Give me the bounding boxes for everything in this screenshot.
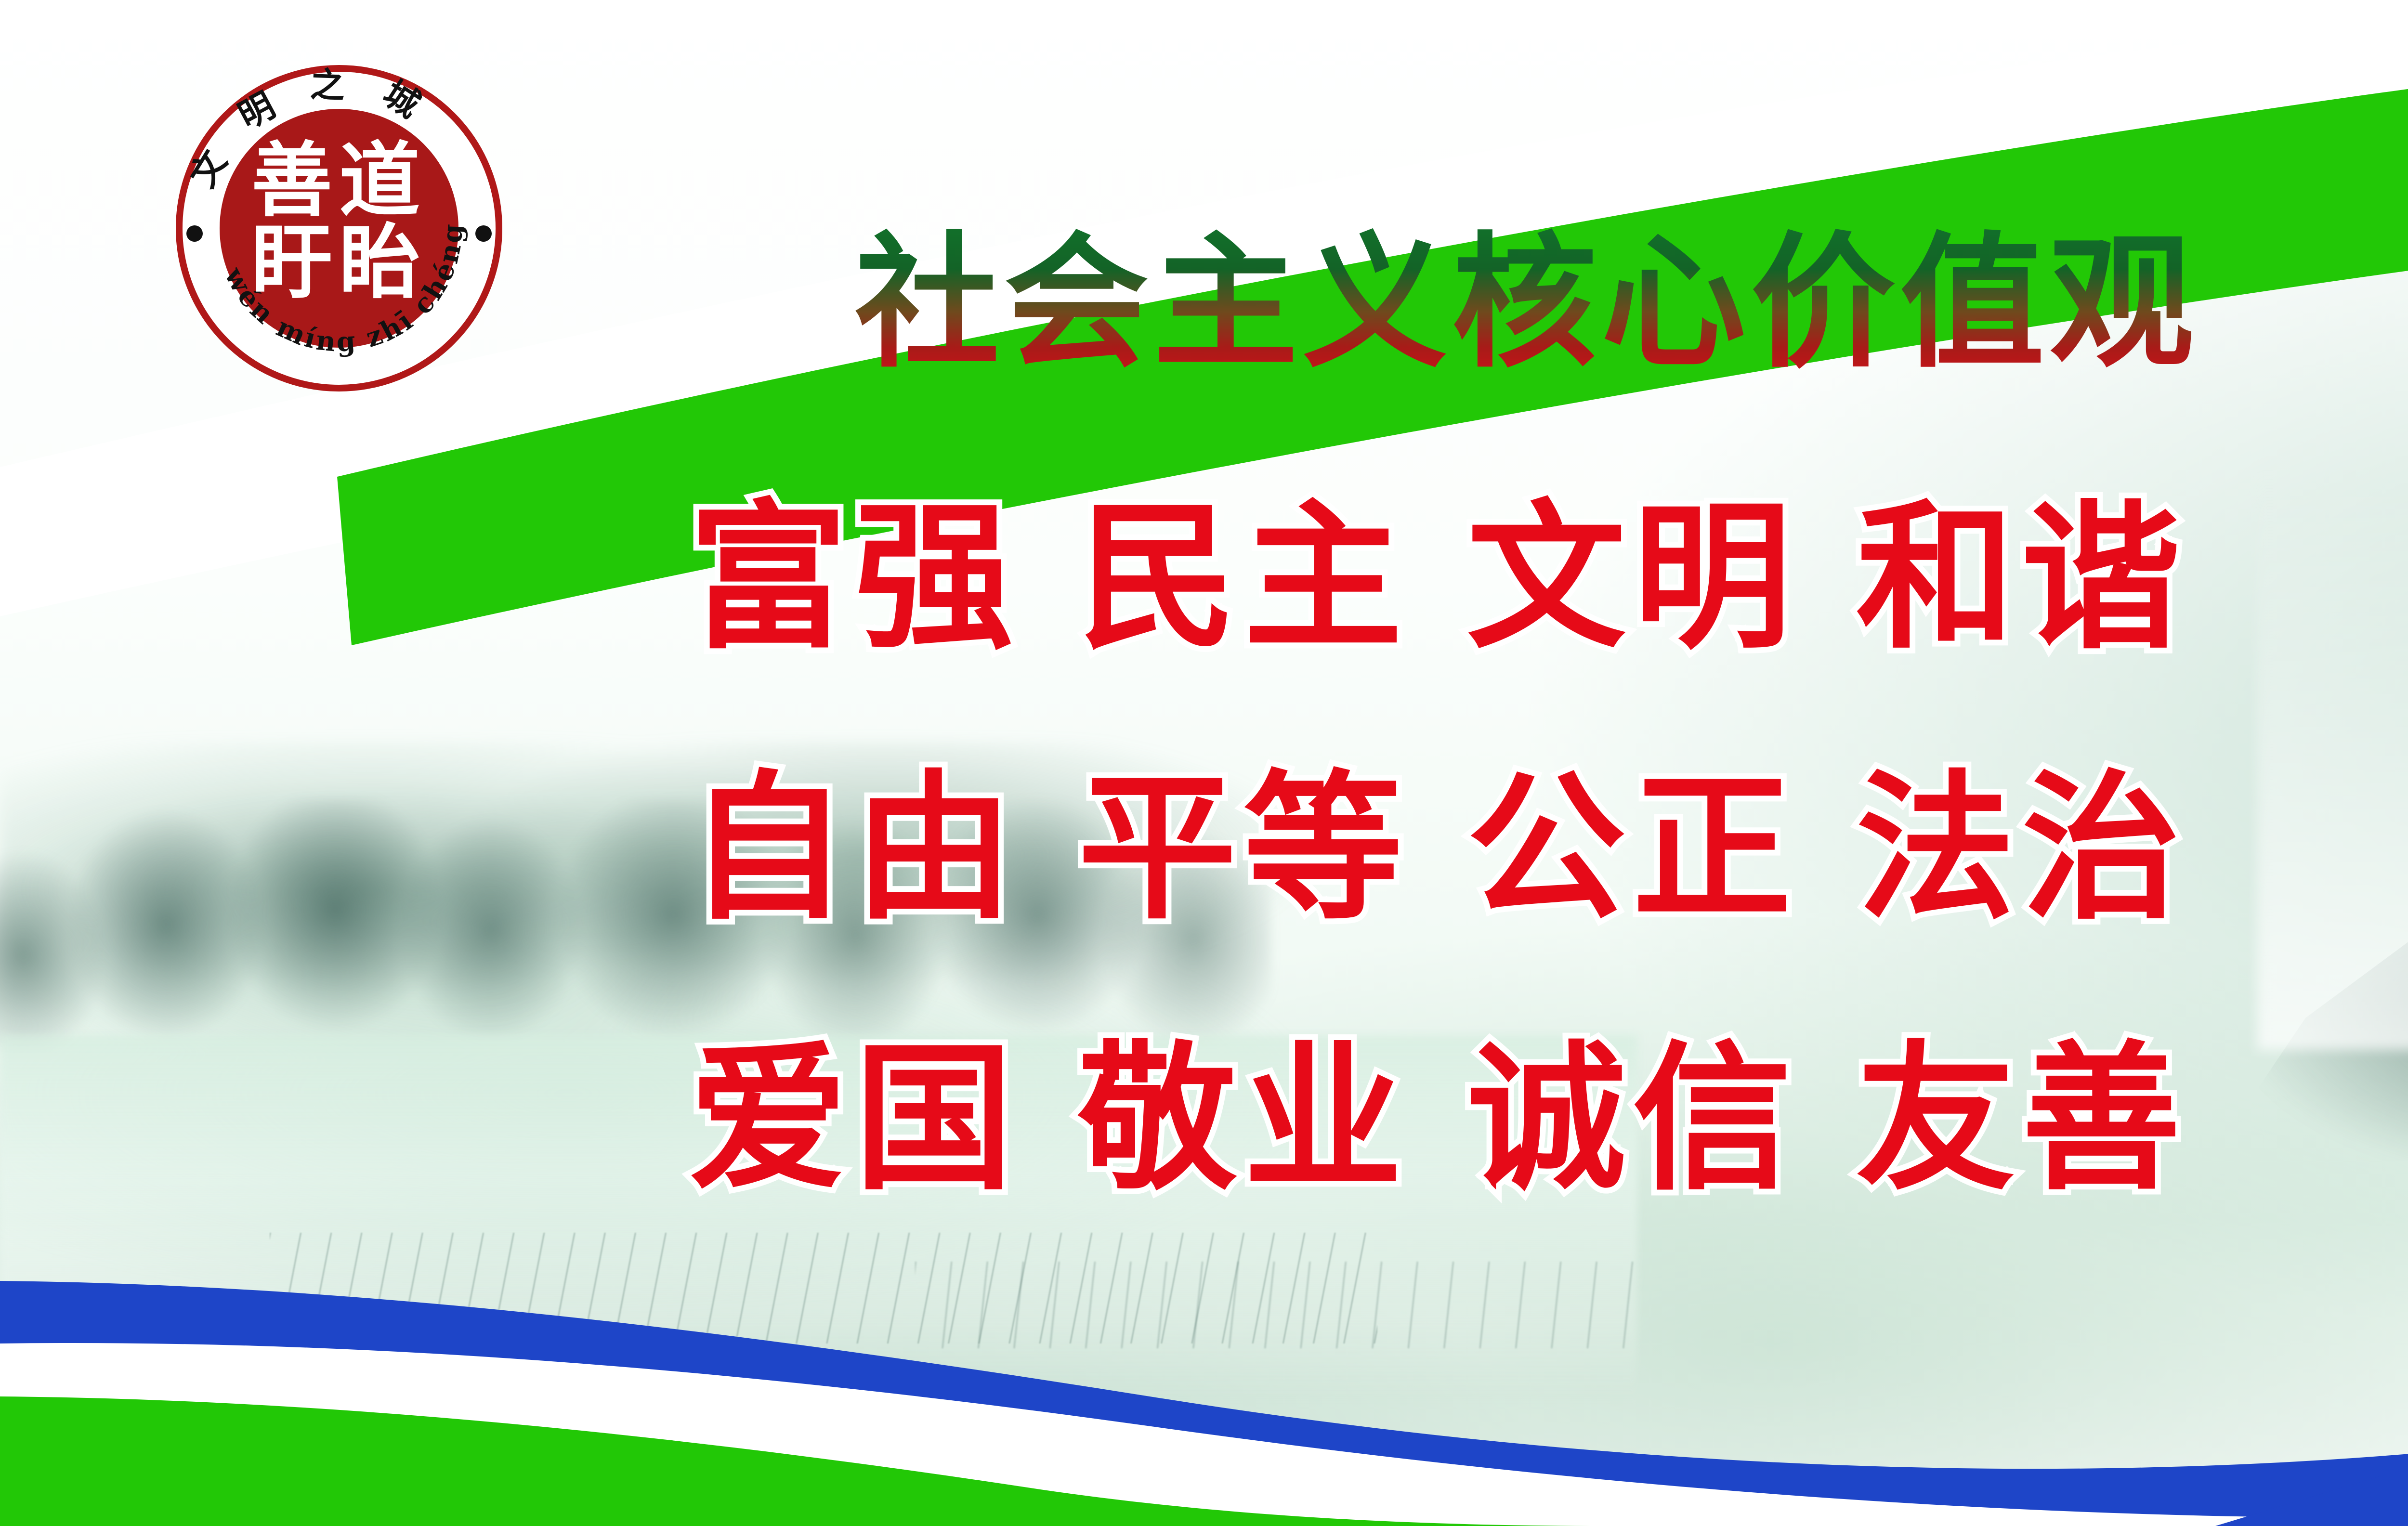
value-word: 公正 (1467, 756, 1798, 941)
value-word: 民主 (1078, 485, 1409, 670)
value-word: 敬业 (1078, 1027, 1409, 1212)
value-row-1: 富强民主文明和谐 (689, 491, 2408, 665)
value-row-3: 爱国敬业诚信友善 (689, 1032, 2408, 1206)
emblem-center-line2: 盱眙 (251, 215, 427, 310)
emblem-dot-left (186, 225, 203, 242)
value-word: 文明 (1467, 485, 1798, 670)
value-word: 富强 (689, 485, 1020, 670)
value-word: 诚信 (1467, 1027, 1798, 1212)
banner-board: 文明之城 wén míng zhī chéng 善道 盱眙 社会主义核心价值观 … (0, 0, 2408, 1526)
value-word: 自由 (689, 756, 1020, 941)
city-emblem-logo[interactable]: 文明之城 wén míng zhī chéng 善道 盱眙 (175, 64, 503, 392)
value-word: 友善 (1856, 1027, 2187, 1212)
value-word: 爱国 (689, 1027, 1020, 1212)
value-word: 平等 (1078, 756, 1409, 941)
value-word: 法治 (1856, 756, 2187, 941)
core-values-list: 富强民主文明和谐 自由平等公正法治 爱国敬业诚信友善 (689, 491, 2408, 1303)
value-row-2: 自由平等公正法治 (689, 762, 2408, 935)
emblem-dot-right (475, 225, 492, 242)
emblem-center-line1: 善道 (251, 133, 427, 228)
page-title: 社会主义核心价值观 (855, 226, 2408, 390)
value-word: 和谐 (1856, 485, 2187, 670)
